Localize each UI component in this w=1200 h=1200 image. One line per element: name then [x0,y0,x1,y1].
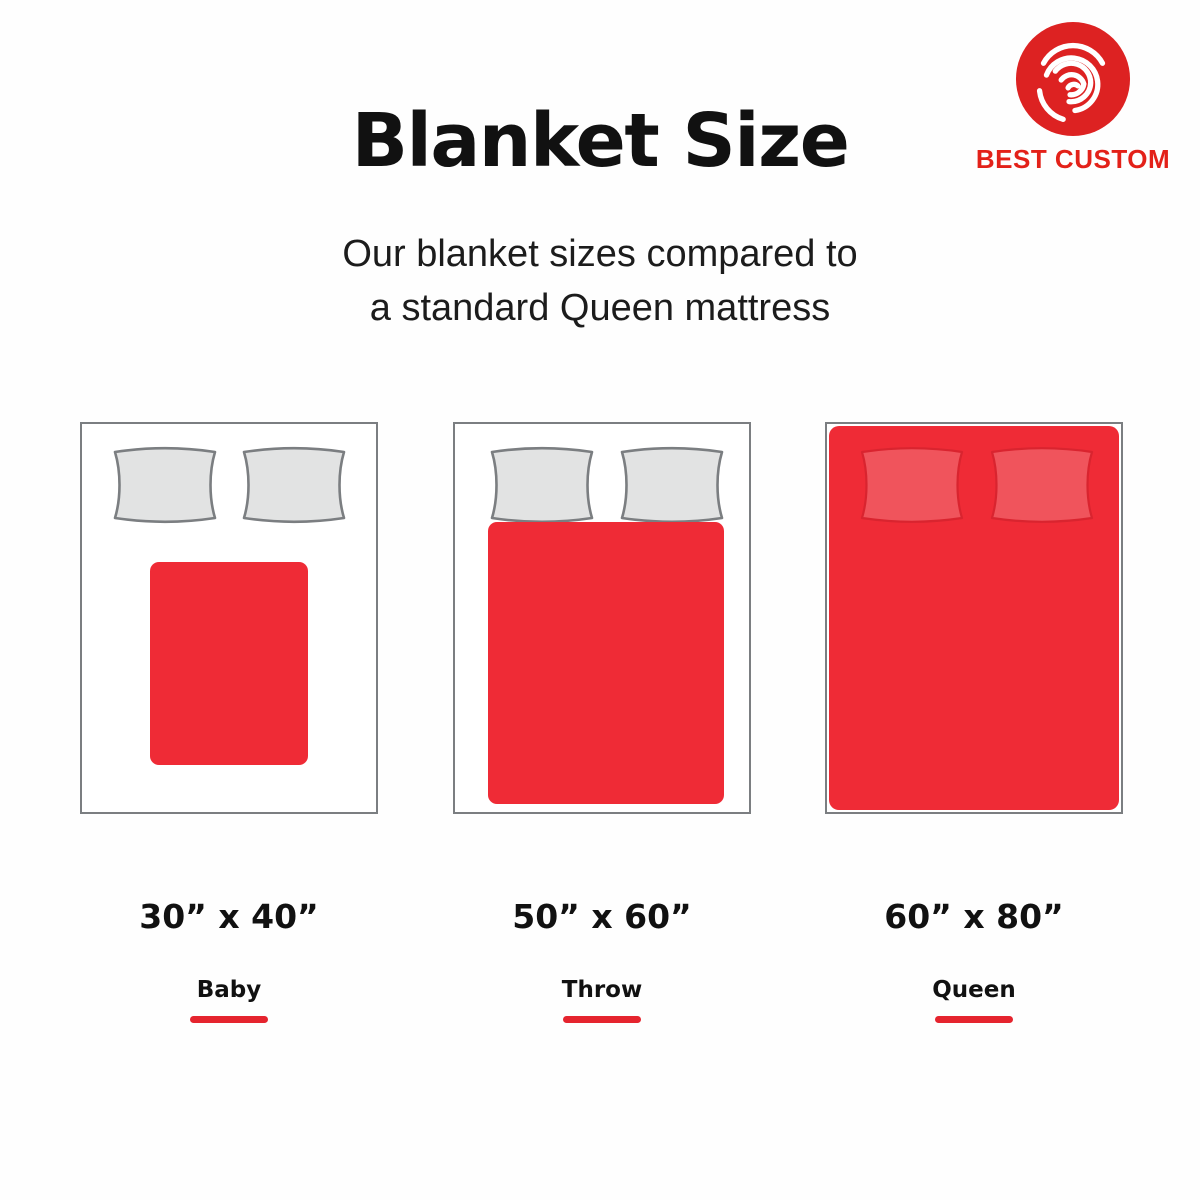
subtitle-line-2: a standard Queen mattress [0,282,1200,336]
pillow-icon-right [985,446,1099,524]
bed-diagram-queen [825,422,1123,814]
mattress-surface-throw [455,424,749,812]
size-name-text: Queen [825,979,1123,1002]
blanket-overlay-baby [150,562,308,765]
bed-diagram-throw [453,422,751,814]
subtitle-line-1: Our blanket sizes compared to [0,228,1200,282]
size-label-throw: 50” x 60” Throw [453,900,751,1023]
dimensions-text: 60” x 80” [825,900,1123,933]
pillow-icon-left [485,446,599,524]
size-labels-row: 30” x 40” Baby 50” x 60” Throw 60” x 80”… [0,900,1200,1060]
underline-rule [190,1016,268,1023]
page-title: Blanket Size [0,104,1200,178]
bed-diagram-baby [80,422,378,814]
pillow-icon-right [615,446,729,524]
mattress-surface-baby [82,424,376,812]
blanket-overlay-throw [488,522,724,804]
size-name-text: Throw [453,979,751,1002]
size-label-queen: 60” x 80” Queen [825,900,1123,1023]
underline-rule [935,1016,1013,1023]
pillow-icon-right [237,446,351,524]
pillow-icon-left [108,446,222,524]
size-label-baby: 30” x 40” Baby [80,900,378,1023]
page-subtitle: Our blanket sizes compared to a standard… [0,228,1200,336]
underline-rule [563,1016,641,1023]
dimensions-text: 30” x 40” [80,900,378,933]
bed-comparison-row [0,422,1200,818]
pillow-icon-left [855,446,969,524]
dimensions-text: 50” x 60” [453,900,751,933]
mattress-surface-queen [827,424,1121,812]
size-name-text: Baby [80,979,378,1002]
